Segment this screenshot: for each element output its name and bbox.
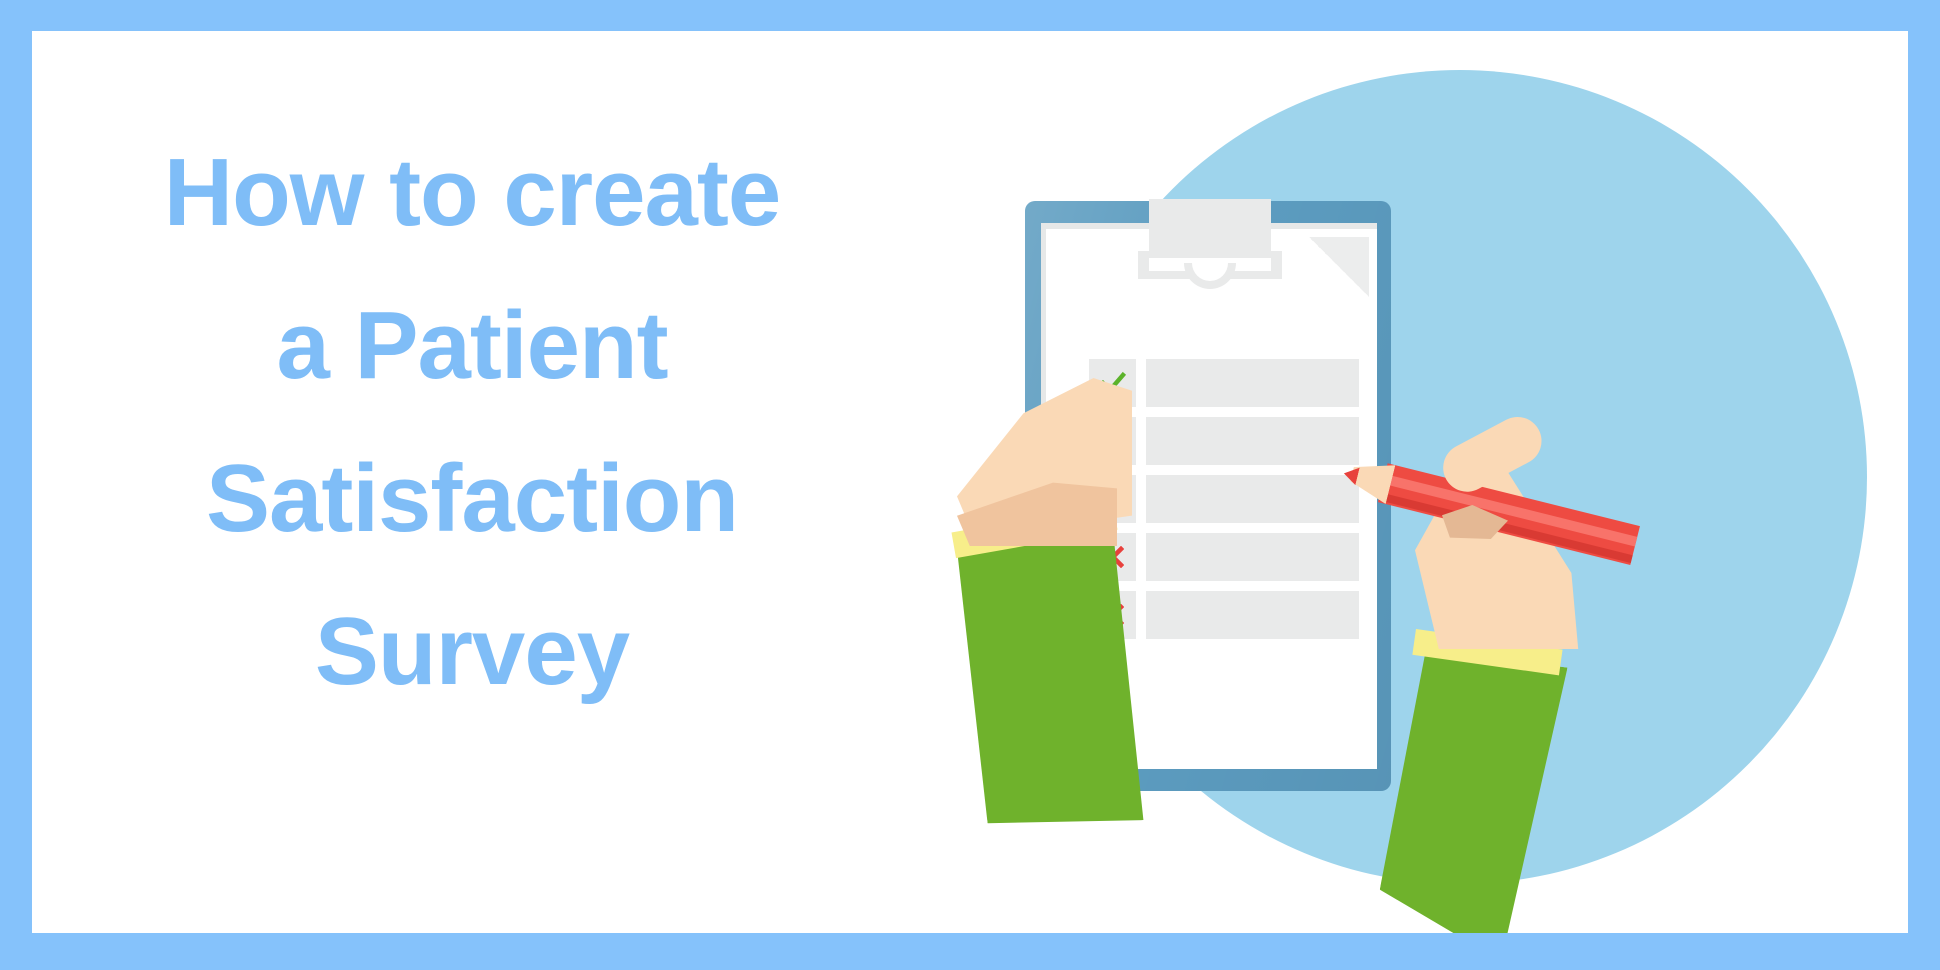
title-line-1: How to create (92, 116, 852, 269)
left-sleeve (940, 521, 1164, 847)
title-line-2: a Patient (92, 269, 852, 422)
page-title: How to create a Patient Satisfaction Sur… (92, 116, 852, 728)
left-arm (937, 386, 1197, 806)
title-line-4: Survey (92, 575, 852, 728)
banner-canvas: How to create a Patient Satisfaction Sur… (0, 0, 1940, 970)
banner-inner-area: How to create a Patient Satisfaction Sur… (32, 31, 1908, 933)
clipboard-clip-head (1149, 199, 1271, 251)
paper-corner-fold-icon (1309, 237, 1369, 297)
right-arm (1412, 431, 1742, 861)
title-line-3: Satisfaction (92, 422, 852, 575)
clipboard-survey-illustration (992, 31, 1908, 933)
